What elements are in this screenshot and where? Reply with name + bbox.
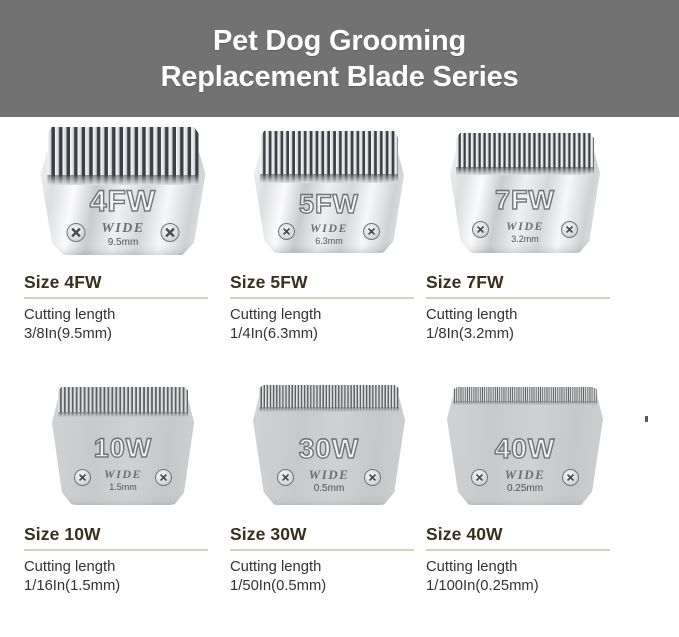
product-card-40w[interactable]: 40WWIDE0.25mmSize 40WCutting length1/100… [412, 369, 638, 629]
blade-screw-left-icon [472, 221, 489, 238]
blade-mm-mark: 3.2mm [450, 234, 600, 244]
product-size-title: Size 10W [24, 524, 224, 545]
blade-graphic: 7FWWIDE3.2mm [450, 133, 600, 253]
blade-image-7fw: 7FWWIDE3.2mm [412, 117, 638, 267]
blade-engraving-model: 4FW [41, 185, 206, 219]
page-title-line-1: Pet Dog Grooming [161, 23, 519, 59]
cutting-length-value: 1/50In(0.5mm) [230, 577, 430, 596]
cutting-length-value: 1/4In(6.3mm) [230, 325, 430, 344]
blade-screw-left-icon [277, 469, 294, 486]
cutting-length-value: 1/16In(1.5mm) [24, 577, 224, 596]
blade-wide-mark: WIDE [253, 467, 405, 483]
title-underline-rule [230, 549, 414, 551]
product-size-title: Size 5FW [230, 272, 430, 293]
product-grid: 4FWWIDE9.5mmSize 4FWCutting length3/8In(… [0, 117, 679, 637]
blade-wide-mark: WIDE [254, 221, 404, 236]
product-card-7fw[interactable]: 7FWWIDE3.2mmSize 7FWCutting length1/8In(… [412, 117, 638, 377]
blade-screw-left-icon [74, 469, 91, 486]
blade-screw-right-icon [155, 469, 172, 486]
product-size-title: Size 30W [230, 524, 430, 545]
blade-mm-mark: 0.5mm [253, 483, 405, 494]
product-caption: Size 5FWCutting length1/4In(6.3mm) [230, 272, 430, 344]
blade-teeth [453, 387, 597, 405]
page-title-line-2: Replacement Blade Series [161, 59, 519, 95]
cutting-length-value: 1/100In(0.25mm) [426, 577, 626, 596]
cutting-length-label: Cutting length [24, 306, 224, 325]
product-card-30w[interactable]: 30WWIDE0.5mmSize 30WCutting length1/50In… [216, 369, 442, 629]
product-card-5fw[interactable]: 5FWWIDE6.3mmSize 5FWCutting length1/4In(… [216, 117, 442, 377]
blade-graphic: 10WWIDE1.5mm [52, 387, 194, 505]
blade-image-10w: 10WWIDE1.5mm [10, 369, 236, 519]
blade-screw-right-icon [363, 223, 380, 240]
product-row-bottom: 10WWIDE1.5mmSize 10WCutting length1/16In… [0, 369, 679, 629]
blade-screw-right-icon [561, 221, 578, 238]
blade-engraving-model: 30W [253, 433, 405, 465]
product-caption: Size 30WCutting length1/50In(0.5mm) [230, 524, 430, 596]
title-underline-rule [24, 297, 208, 299]
blade-screw-right-icon [364, 469, 381, 486]
blade-mm-mark: 6.3mm [254, 236, 404, 246]
blade-mm-mark: 0.25mm [447, 483, 603, 494]
cutting-length-value: 1/8In(3.2mm) [426, 325, 626, 344]
blade-graphic: 30WWIDE0.5mm [253, 385, 405, 505]
title-underline-rule [24, 549, 208, 551]
blade-engraving-model: 40W [447, 433, 603, 465]
blade-screw-left-icon [278, 223, 295, 240]
blade-teeth [58, 387, 189, 417]
blade-teeth [260, 131, 398, 183]
product-row-top: 4FWWIDE9.5mmSize 4FWCutting length3/8In(… [0, 117, 679, 377]
blade-teeth-spine [453, 401, 597, 405]
product-size-title: Size 40W [426, 524, 626, 545]
product-card-10w[interactable]: 10WWIDE1.5mmSize 10WCutting length1/16In… [10, 369, 236, 629]
blade-teeth-spine [259, 407, 399, 412]
blade-image-5fw: 5FWWIDE6.3mm [216, 117, 442, 267]
header-banner: Pet Dog Grooming Replacement Blade Serie… [0, 0, 679, 117]
blade-screw-left-icon [471, 469, 488, 486]
product-size-title: Size 7FW [426, 272, 626, 293]
blade-engraving-model: 7FW [450, 185, 600, 216]
product-caption: Size 10WCutting length1/16In(1.5mm) [24, 524, 224, 596]
blade-mm-mark: 1.5mm [52, 482, 194, 492]
blade-teeth [259, 385, 399, 412]
blade-mm-mark: 9.5mm [41, 237, 206, 248]
blade-graphic: 5FWWIDE6.3mm [254, 131, 404, 253]
cutting-length-label: Cutting length [24, 558, 224, 577]
blade-teeth [47, 127, 199, 185]
product-caption: Size 4FWCutting length3/8In(9.5mm) [24, 272, 224, 344]
blade-teeth-spine [456, 167, 594, 175]
blade-image-40w: 40WWIDE0.25mm [412, 369, 638, 519]
cutting-length-value: 3/8In(9.5mm) [24, 325, 224, 344]
blade-teeth-spine [260, 174, 398, 183]
product-caption: Size 7FWCutting length1/8In(3.2mm) [426, 272, 626, 344]
scan-artifact-speck [645, 416, 648, 422]
blade-image-30w: 30WWIDE0.5mm [216, 369, 442, 519]
blade-teeth-spine [58, 412, 189, 417]
cutting-length-label: Cutting length [230, 558, 430, 577]
blade-engraving-model: 5FW [254, 189, 404, 220]
blade-graphic: 4FWWIDE9.5mm [41, 127, 206, 255]
title-underline-rule [426, 549, 610, 551]
title-underline-rule [230, 297, 414, 299]
blade-screw-right-icon [562, 469, 579, 486]
blade-screw-left-icon [67, 223, 86, 242]
blade-teeth [456, 133, 594, 175]
blade-screw-right-icon [161, 223, 180, 242]
page-title: Pet Dog Grooming Replacement Blade Serie… [161, 23, 519, 95]
title-underline-rule [426, 297, 610, 299]
cutting-length-label: Cutting length [230, 306, 430, 325]
product-caption: Size 40WCutting length1/100In(0.25mm) [426, 524, 626, 596]
cutting-length-label: Cutting length [426, 558, 626, 577]
blade-image-4fw: 4FWWIDE9.5mm [10, 117, 236, 267]
blade-wide-mark: WIDE [41, 221, 206, 237]
product-card-4fw[interactable]: 4FWWIDE9.5mmSize 4FWCutting length3/8In(… [10, 117, 236, 377]
cutting-length-label: Cutting length [426, 306, 626, 325]
blade-graphic: 40WWIDE0.25mm [447, 387, 603, 505]
blade-engraving-model: 10W [52, 433, 194, 464]
blade-teeth-spine [47, 175, 199, 185]
product-size-title: Size 4FW [24, 272, 224, 293]
